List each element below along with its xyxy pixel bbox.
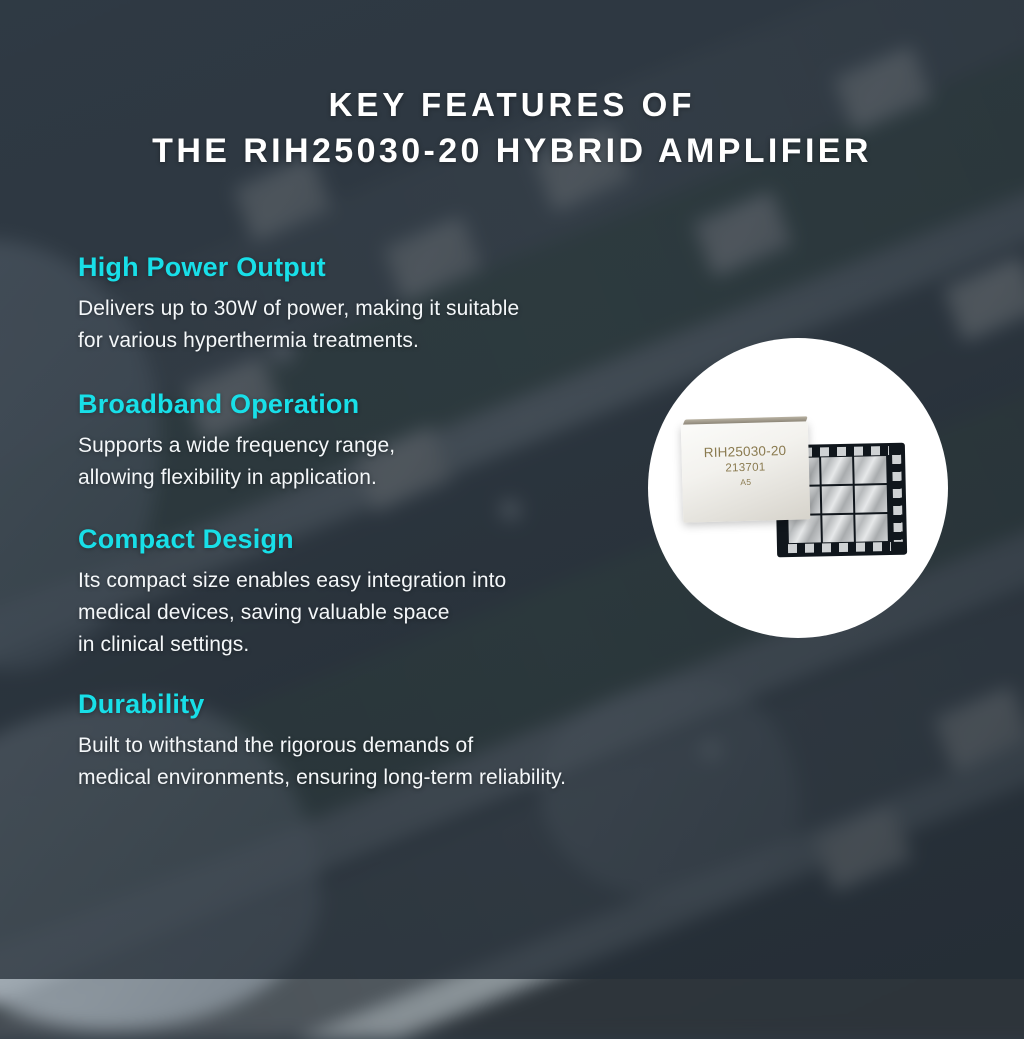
feature-heading: Durability xyxy=(78,689,678,720)
title-line-2: THE RIH25030-20 HYBRID AMPLIFIER xyxy=(0,128,1024,174)
feature-body-line: Its compact size enables easy integratio… xyxy=(78,565,678,597)
product-photo: RIH25030-20 213701 A5 xyxy=(648,338,948,638)
package-part-number: RIH25030-20 xyxy=(681,442,808,460)
feature-heading: High Power Output xyxy=(78,252,678,283)
feature-list: High Power Output Delivers up to 30W of … xyxy=(78,252,678,820)
chip-castellation-col-right xyxy=(892,455,903,542)
feature-body-line: Delivers up to 30W of power, making it s… xyxy=(78,293,678,325)
feature-item-durability: Durability Built to withstand the rigoro… xyxy=(78,689,678,794)
feature-body-line: Supports a wide frequency range, xyxy=(78,430,678,462)
ceramic-amplifier-package: RIH25030-20 213701 A5 xyxy=(681,416,811,522)
feature-item-high-power-output: High Power Output Delivers up to 30W of … xyxy=(78,252,678,357)
feature-heading: Broadband Operation xyxy=(78,389,678,420)
feature-body-line: medical environments, ensuring long-term… xyxy=(78,762,678,794)
feature-body-line: for various hyperthermia treatments. xyxy=(78,325,678,357)
feature-body-line: in clinical settings. xyxy=(78,629,678,661)
package-markings: RIH25030-20 213701 A5 xyxy=(681,442,809,488)
package-lot-code: 213701 xyxy=(682,460,809,475)
title-line-1: KEY FEATURES OF xyxy=(0,82,1024,128)
feature-item-compact-design: Compact Design Its compact size enables … xyxy=(78,524,678,661)
feature-body-line: Built to withstand the rigorous demands … xyxy=(78,730,678,762)
chip-castellation-row-bottom xyxy=(788,542,891,553)
product-image-circle: RIH25030-20 213701 A5 xyxy=(648,338,948,638)
feature-body-line: allowing flexibility in application. xyxy=(78,462,678,494)
page-title: KEY FEATURES OF THE RIH25030-20 HYBRID A… xyxy=(0,82,1024,174)
feature-item-broadband-operation: Broadband Operation Supports a wide freq… xyxy=(78,389,678,494)
feature-body-line: medical devices, saving valuable space xyxy=(78,597,678,629)
feature-heading: Compact Design xyxy=(78,524,678,555)
